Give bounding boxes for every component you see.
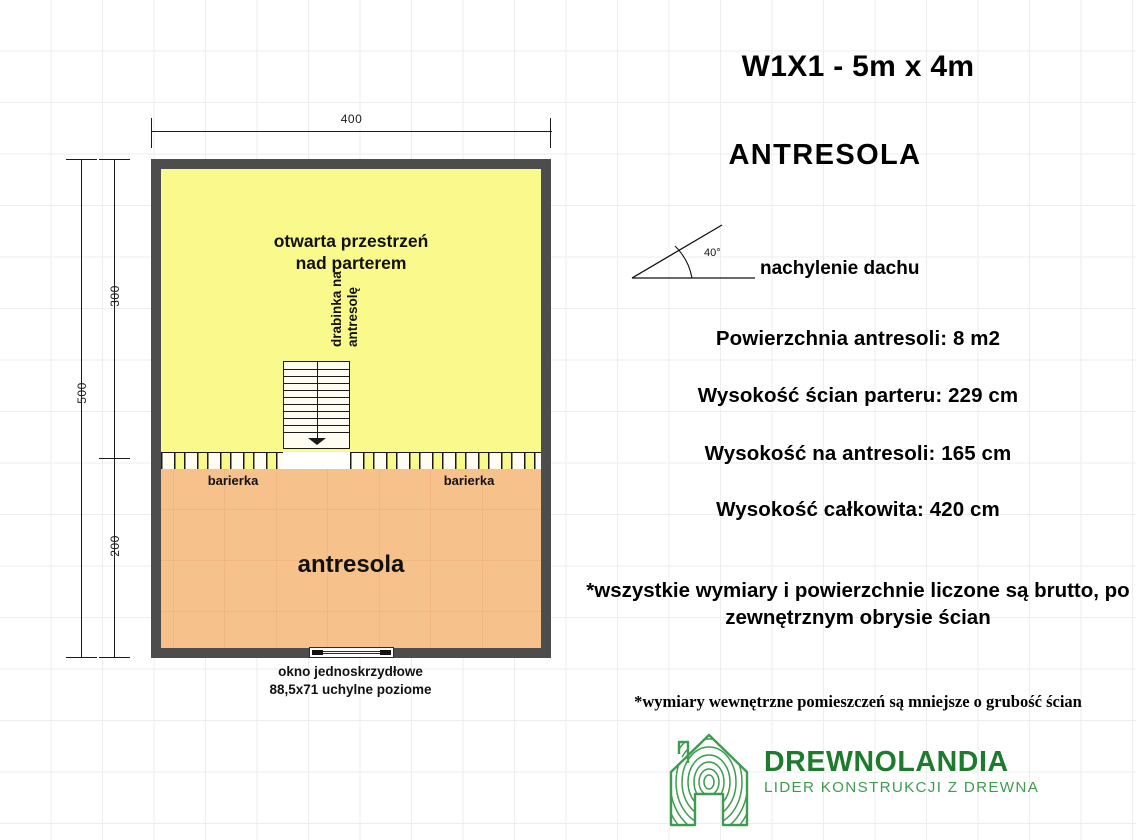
spec-mezzanine-area: Powierzchnia antresoli: 8 m2 <box>580 327 1136 351</box>
company-logo: DREWNOLANDIA LIDER KONSTRUKCJI Z DREWNA <box>668 732 1068 832</box>
dimension-left-lower-label: 200 <box>108 516 122 576</box>
dimension-tick-top <box>66 159 97 160</box>
page-title: W1X1 - 5m x 4m <box>580 50 1136 84</box>
logo-text-block: DREWNOLANDIA LIDER KONSTRUKCJI Z DREWNA <box>764 748 1039 799</box>
ladder-center-line <box>317 362 318 440</box>
floor-plan-drawing: 400 500 300 200 otwarta przestrzeń nad p… <box>0 0 600 840</box>
wood-house-logo-icon <box>668 732 750 828</box>
logo-tagline: LIDER KONSTRUKCJI Z DREWNA <box>764 777 1039 800</box>
mezzanine-label: antresola <box>161 551 541 579</box>
direction-arrow-icon <box>308 438 326 445</box>
dimension-tick-bottom <box>99 657 130 658</box>
building-interior: otwarta przestrzeń nad parterem <box>161 169 541 648</box>
window-jamb-left <box>312 650 323 655</box>
dimension-tick-middle <box>99 458 130 459</box>
dimension-left-total-label: 500 <box>75 363 89 423</box>
dimension-top-400: 400 <box>151 112 552 138</box>
page-subtitle: ANTRESOLA <box>580 139 1070 172</box>
floor-plan-page: 400 500 300 200 otwarta przestrzeń nad p… <box>0 0 1136 840</box>
logo-company-name: DREWNOLANDIA <box>764 748 1039 777</box>
window-caption: okno jednoskrzydłowe 88,5x71 uchylne poz… <box>188 663 513 698</box>
dimension-left-total: 500 <box>70 159 92 658</box>
railing-balusters-right <box>350 453 541 470</box>
dimension-line <box>114 159 115 658</box>
ladder-symbol <box>283 361 350 449</box>
dimension-left-chain: 300 200 <box>103 159 125 658</box>
window-symbol <box>309 647 394 658</box>
floor-gridline <box>161 611 541 612</box>
dimension-line <box>151 131 552 132</box>
ladder-label: drabinka na antresolę <box>329 237 361 347</box>
mezzanine-floor: antresola <box>161 469 541 648</box>
railing-label-right: barierka <box>409 473 529 488</box>
railing-band <box>161 452 541 469</box>
railing-balusters-left <box>161 453 283 470</box>
floor-gridline <box>161 509 541 510</box>
dimension-tick-top <box>99 159 130 160</box>
roof-angle-caption: nachylenie dachu <box>760 258 1120 280</box>
spec-total-height: Wysokość całkowita: 420 cm <box>580 498 1136 522</box>
info-panel: W1X1 - 5m x 4m ANTRESOLA 40° nachylenie … <box>580 0 1136 840</box>
dimension-top-label: 400 <box>151 112 552 126</box>
spec-mezzanine-height: Wysokość na antresoli: 165 cm <box>580 442 1136 466</box>
spec-ground-wall-height: Wysokość ścian parteru: 229 cm <box>580 384 1136 408</box>
note-internal-dimensions: *wymiary wewnętrzne pomieszczeń są mniej… <box>580 692 1136 712</box>
dimension-tick-bottom <box>66 657 97 658</box>
roof-angle-value: 40° <box>704 247 721 259</box>
roof-pitch-icon <box>630 222 770 282</box>
dimension-left-upper-label: 300 <box>108 266 122 326</box>
railing-label-left: barierka <box>173 473 293 488</box>
building-walls: otwarta przestrzeń nad parterem <box>151 159 551 658</box>
window-pane <box>320 651 385 654</box>
note-gross-dimensions: *wszystkie wymiary i powierzchnie liczon… <box>580 578 1136 631</box>
window-jamb-right <box>380 650 391 655</box>
